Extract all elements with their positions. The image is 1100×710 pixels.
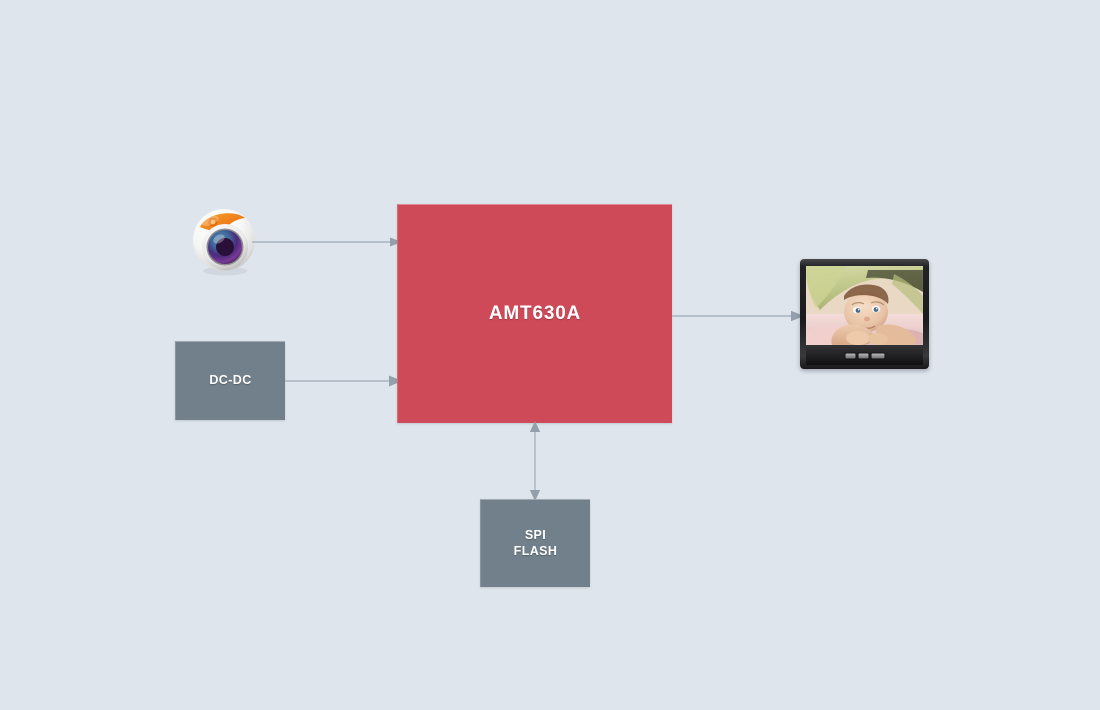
monitor-screen bbox=[806, 266, 923, 345]
block-dc-dc[interactable]: DC-DC bbox=[175, 341, 285, 420]
connector-main-to-display bbox=[672, 306, 804, 326]
monitor-button-middle[interactable] bbox=[858, 354, 868, 359]
connector-camera-to-main bbox=[252, 232, 402, 252]
diagram-canvas: DC-DC AMT630A SPI FLASH bbox=[0, 0, 1100, 710]
block-spi-flash-label: SPI FLASH bbox=[514, 528, 558, 559]
connector-dcdc-to-main bbox=[285, 371, 402, 391]
monitor-button-left[interactable] bbox=[845, 354, 855, 359]
monitor-icon[interactable] bbox=[800, 259, 929, 369]
monitor-buttons[interactable] bbox=[845, 354, 884, 359]
webcam-icon[interactable] bbox=[190, 205, 260, 277]
block-dc-dc-label: DC-DC bbox=[209, 373, 251, 389]
block-amt630a[interactable]: AMT630A bbox=[397, 204, 672, 423]
block-spi-flash[interactable]: SPI FLASH bbox=[480, 499, 590, 587]
monitor-button-right[interactable] bbox=[871, 354, 884, 359]
connector-main-to-spi-flash bbox=[525, 421, 545, 501]
monitor-control-bar bbox=[806, 347, 923, 365]
block-amt630a-label: AMT630A bbox=[489, 302, 581, 326]
